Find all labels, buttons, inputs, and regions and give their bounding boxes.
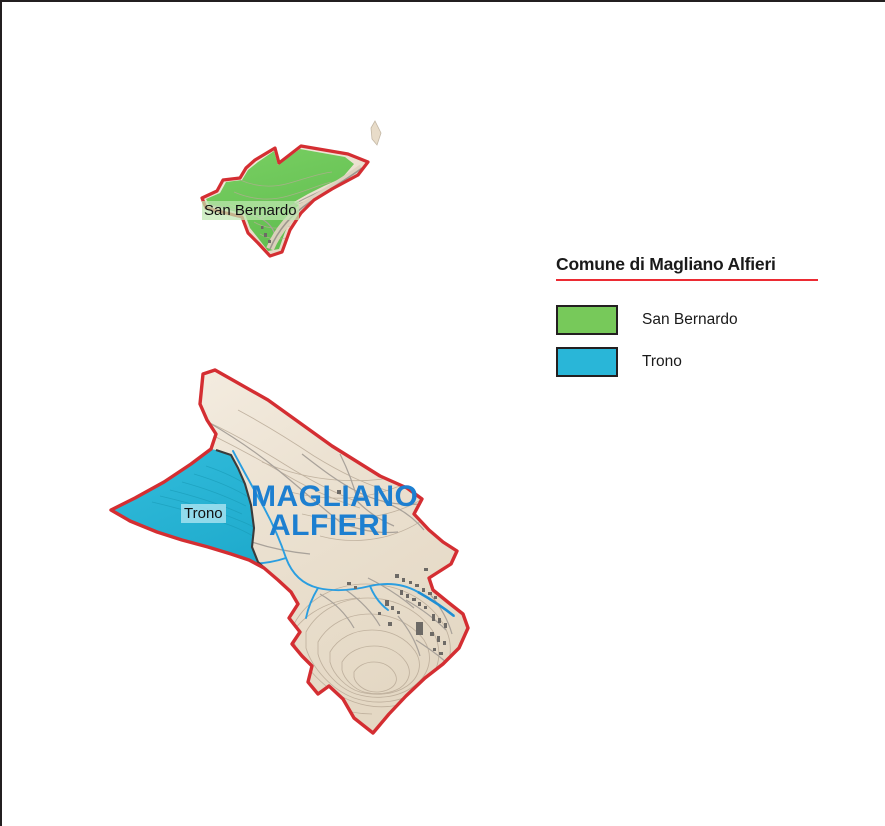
legend-title-underline [556,279,818,281]
legend-item-san-bernardo[interactable]: San Bernardo [556,299,856,341]
exclave-sliver [371,121,381,145]
legend-item-trono[interactable]: Trono [556,341,856,383]
map-area-san-bernardo[interactable] [202,121,381,256]
map-page: San Bernardo Trono MAGLIANO ALFIERI Comu… [0,0,885,826]
map-canvas [2,2,885,826]
legend-label-trono: Trono [642,353,682,371]
legend-swatch-trono [556,347,618,377]
legend-label-san-bernardo: San Bernardo [642,311,738,329]
legend-swatch-san-bernardo [556,305,618,335]
map-area-magliano-alfieri[interactable] [111,370,468,733]
legend-title: Comune di Magliano Alfieri [556,254,856,279]
legend: Comune di Magliano Alfieri San Bernardo … [556,254,856,383]
